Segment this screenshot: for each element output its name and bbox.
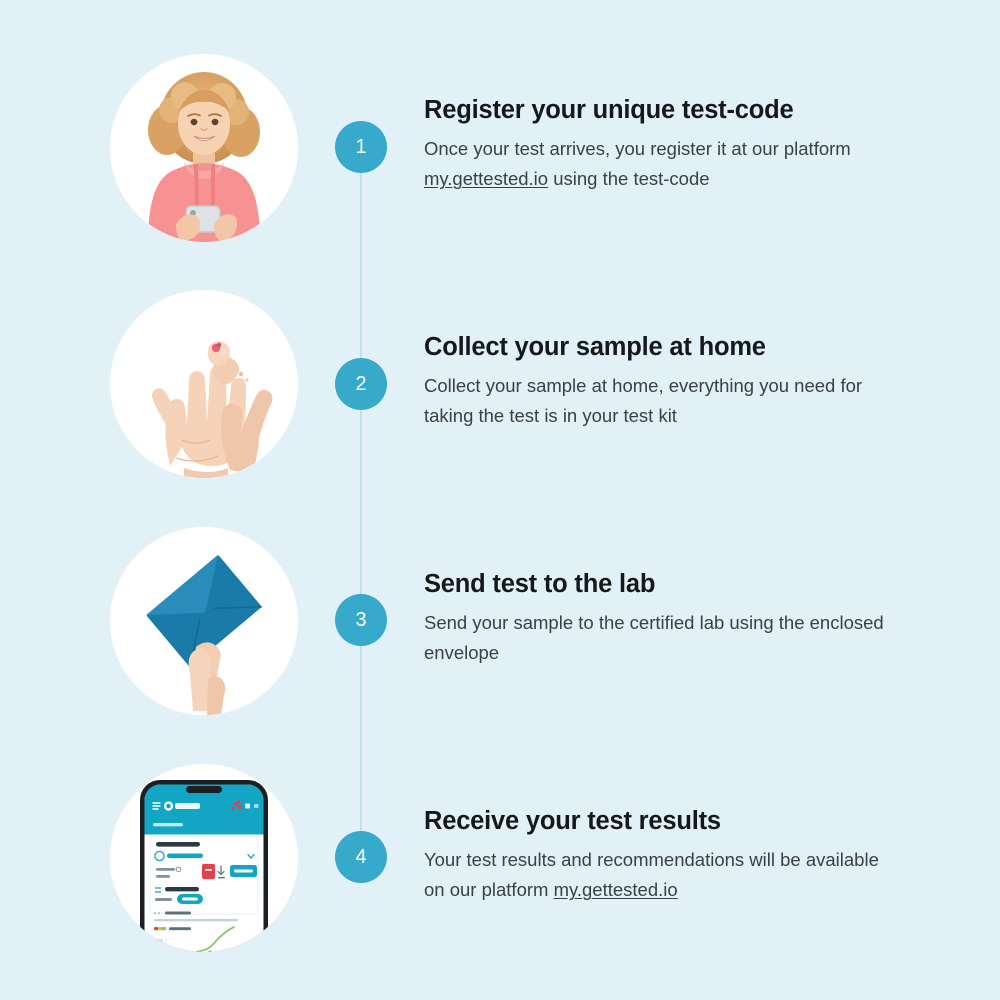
step-number-label: 4: [355, 847, 366, 867]
step-description: Collect your sample at home, everything …: [424, 371, 904, 431]
platform-link[interactable]: my.gettested.io: [554, 879, 678, 900]
hand-holding-blue-envelope-illustration: [110, 527, 298, 715]
step-number-label: 3: [355, 610, 366, 630]
step-number-badge-2: 2: [335, 358, 387, 410]
step-number-badge-1: 1: [335, 121, 387, 173]
step-title: Send test to the lab: [424, 570, 924, 599]
hand-holding-blue-envelope-photo: [110, 527, 298, 715]
how-it-works-steps: 1Register your unique test-codeOnce your…: [0, 0, 1000, 1000]
step-description: Your test results and recommendations wi…: [424, 845, 904, 905]
phone-results-app-illustration: 150 100 50: [110, 764, 298, 952]
step-connector-line: [360, 173, 362, 358]
phone-results-app-photo: 150 100 50: [110, 764, 298, 952]
step-title: Receive your test results: [424, 807, 924, 836]
woman-with-phone-photo: [110, 54, 298, 242]
step-connector-line: [360, 410, 362, 594]
step-number-label: 2: [355, 374, 366, 394]
step-description-text-tail: using the test-code: [548, 168, 709, 189]
step-text-block-3: Send test to the labSend your sample to …: [424, 570, 924, 669]
step-connector-line: [360, 646, 362, 831]
svg-text:100: 100: [156, 951, 164, 952]
svg-text:150: 150: [156, 938, 164, 943]
step-title: Collect your sample at home: [424, 333, 924, 362]
step-text-block-1: Register your unique test-codeOnce your …: [424, 96, 924, 195]
step-description: Send your sample to the certified lab us…: [424, 608, 904, 668]
step-description: Once your test arrives, you register it …: [424, 134, 904, 194]
step-text-block-2: Collect your sample at homeCollect your …: [424, 333, 924, 432]
finger-prick-hands-photo: [110, 290, 298, 478]
step-number-label: 1: [355, 137, 366, 157]
step-description-text: Collect your sample at home, everything …: [424, 375, 862, 426]
step-number-badge-3: 3: [335, 594, 387, 646]
platform-link[interactable]: my.gettested.io: [424, 168, 548, 189]
step-title: Register your unique test-code: [424, 96, 924, 125]
step-text-block-4: Receive your test resultsYour test resul…: [424, 807, 924, 906]
step-description-text: Once your test arrives, you register it …: [424, 138, 851, 159]
woman-with-phone-illustration: [110, 54, 298, 242]
finger-prick-hands-illustration: [110, 290, 298, 478]
step-number-badge-4: 4: [335, 831, 387, 883]
step-description-text: Send your sample to the certified lab us…: [424, 612, 884, 663]
